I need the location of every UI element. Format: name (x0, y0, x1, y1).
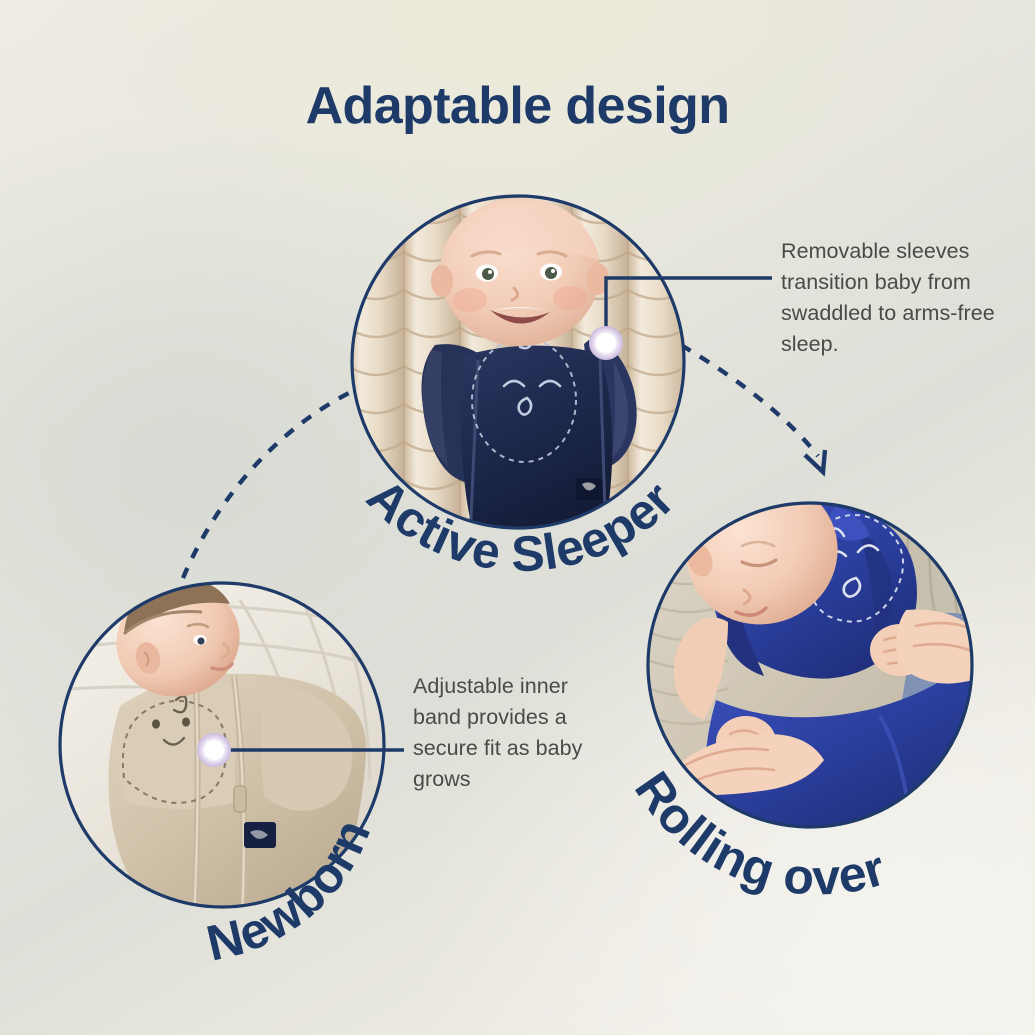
infographic-canvas: Adaptable design (0, 0, 1035, 1035)
infographic-artwork: Active Sleeper Newborn Rolling over (0, 0, 1035, 1035)
connector-active-sleeper-to-rolling-over (681, 345, 825, 472)
connector-newborn-to-active-sleeper (183, 389, 357, 578)
callout-text-removable-sleeves: Removable sleeves transition baby from s… (781, 236, 1027, 360)
photo-rolling-over (644, 460, 982, 838)
callout-text-adjustable-band: Adjustable inner band provides a secure … (413, 671, 605, 795)
